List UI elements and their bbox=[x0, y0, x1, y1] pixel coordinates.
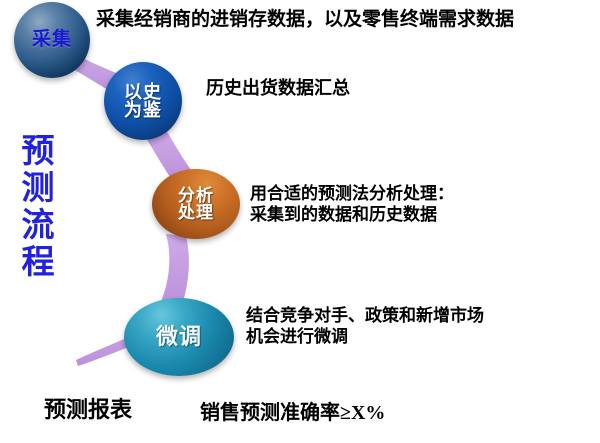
node-analyze-label: 分析 处理 bbox=[178, 187, 214, 222]
node-analyze[interactable]: 分析 处理 bbox=[152, 169, 240, 239]
node-collect[interactable]: 采集 bbox=[14, 2, 90, 78]
node-tune[interactable]: 微调 bbox=[124, 298, 234, 376]
forecast-process-diagram: 采集 以史 为鉴 分析 处理 微调 采集经销商的进销存数据，以及零售终端需求数据… bbox=[0, 0, 600, 443]
description-history: 历史出货数据汇总 bbox=[206, 78, 350, 100]
footer-accuracy-label: 销售预测准确率≥X% bbox=[200, 396, 385, 425]
node-history[interactable]: 以史 为鉴 bbox=[104, 62, 182, 140]
description-analyze: 用合适的预测法分析处理： 采集到的数据和历史数据 bbox=[250, 184, 454, 225]
node-tune-label: 微调 bbox=[156, 326, 202, 348]
diagram-title: 预测 流程 bbox=[16, 134, 60, 282]
node-history-label: 以史 为鉴 bbox=[124, 83, 162, 120]
description-collect: 采集经销商的进销存数据，以及零售终端需求数据 bbox=[96, 8, 514, 31]
footer-report-label: 预测报表 bbox=[44, 392, 132, 424]
node-collect-label: 采集 bbox=[32, 30, 72, 49]
description-tune: 结合竞争对手、政策和新增市场 机会进行微调 bbox=[246, 306, 484, 347]
